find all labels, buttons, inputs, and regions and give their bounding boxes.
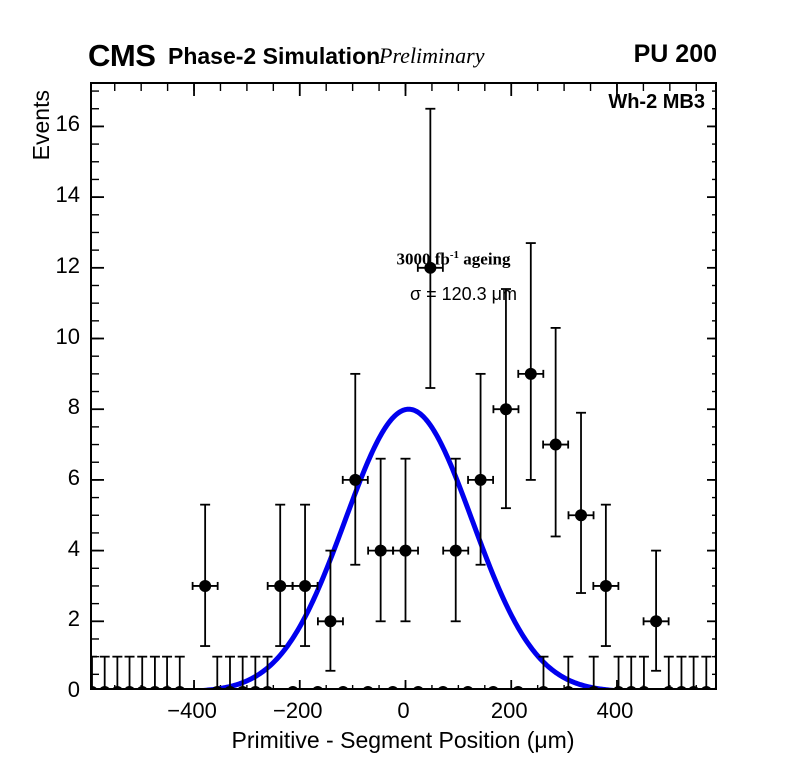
data-point (588, 657, 600, 688)
data-marker (312, 686, 324, 688)
data-point (437, 686, 449, 688)
data-marker (650, 615, 662, 627)
data-point (512, 686, 524, 688)
data-point (688, 657, 700, 688)
data-marker (450, 545, 462, 557)
data-point (237, 657, 249, 688)
data-marker (375, 545, 387, 557)
data-marker (700, 686, 712, 688)
region-label: Wh-2 MB3 (608, 91, 705, 114)
data-point (136, 657, 148, 688)
data-point (644, 551, 669, 671)
data-point (262, 657, 274, 688)
data-marker (92, 686, 98, 688)
data-marker (211, 686, 223, 688)
x-tick-label: −200 (253, 698, 343, 724)
data-point (337, 686, 349, 688)
y-tick-label: 0 (20, 677, 80, 703)
data-point (537, 657, 549, 688)
y-tick-label: 12 (20, 253, 80, 279)
data-point (412, 686, 424, 688)
data-point (393, 459, 418, 622)
data-marker (625, 686, 637, 688)
data-point (211, 657, 223, 688)
y-tick-label: 10 (20, 324, 80, 350)
y-tick-label: 8 (20, 394, 80, 420)
data-marker (136, 686, 148, 688)
data-marker (99, 686, 111, 688)
data-point (224, 657, 236, 688)
data-point (518, 243, 543, 480)
data-point (443, 459, 468, 622)
plot-area (92, 84, 715, 688)
data-point (268, 505, 293, 646)
data-marker (387, 686, 399, 688)
data-point (92, 657, 98, 688)
data-point (593, 505, 618, 646)
cms-logo-text: CMS (88, 40, 155, 71)
data-point (675, 657, 687, 688)
data-marker (274, 580, 286, 592)
data-point (368, 459, 393, 622)
data-point (638, 657, 650, 688)
simulation-label: Phase-2 Simulation (168, 45, 380, 68)
data-marker (124, 686, 136, 688)
data-marker (487, 686, 499, 688)
data-marker (400, 545, 412, 557)
data-marker (324, 615, 336, 627)
data-point (287, 686, 299, 688)
data-marker (224, 686, 236, 688)
data-points-layer (92, 84, 715, 688)
data-point (568, 413, 593, 593)
data-point (174, 657, 186, 688)
data-point (161, 657, 173, 688)
data-marker (713, 686, 715, 688)
data-marker (262, 686, 274, 688)
data-point (543, 328, 568, 537)
data-marker (500, 403, 512, 415)
data-marker (362, 686, 374, 688)
data-marker (600, 580, 612, 592)
data-marker (237, 686, 249, 688)
data-marker (475, 474, 487, 486)
data-marker (161, 686, 173, 688)
data-point (487, 686, 499, 688)
data-marker (199, 580, 211, 592)
y-tick-label: 16 (20, 111, 80, 137)
data-marker (525, 368, 537, 380)
y-tick-label: 14 (20, 182, 80, 208)
data-marker (562, 686, 574, 688)
data-marker (287, 686, 299, 688)
data-marker (512, 686, 524, 688)
data-marker (149, 686, 161, 688)
data-marker (575, 509, 587, 521)
preliminary-label: Preliminary (379, 45, 485, 67)
data-point (124, 657, 136, 688)
y-tick-label: 2 (20, 606, 80, 632)
data-point (713, 657, 715, 688)
y-tick-label: 6 (20, 465, 80, 491)
data-marker (299, 580, 311, 592)
y-tick-label: 4 (20, 536, 80, 562)
pileup-label: PU 200 (634, 42, 717, 67)
data-marker (111, 686, 123, 688)
data-point (293, 505, 318, 646)
plot-canvas: CMS Phase-2 Simulation Preliminary PU 20… (0, 0, 796, 772)
data-point (362, 686, 374, 688)
data-point (663, 657, 675, 688)
data-point (193, 505, 218, 646)
x-tick-label: 0 (359, 698, 449, 724)
data-marker (349, 474, 361, 486)
data-point (312, 686, 324, 688)
data-point (562, 657, 574, 688)
plot-header: CMS Phase-2 Simulation Preliminary PU 20… (0, 0, 796, 82)
lumi-exponent: -1 (450, 249, 459, 261)
x-tick-label: −400 (147, 698, 237, 724)
data-marker (613, 686, 625, 688)
data-marker (688, 686, 700, 688)
data-marker (638, 686, 650, 688)
lumi-suffix: ageing (459, 250, 510, 269)
data-marker (437, 686, 449, 688)
data-point (387, 686, 399, 688)
luminosity-label: 3000 fb-1 ageing (396, 249, 510, 270)
data-point (700, 657, 712, 688)
data-point (149, 657, 161, 688)
data-marker (412, 686, 424, 688)
data-point (343, 374, 368, 565)
data-point (99, 657, 111, 688)
sigma-label: σ = 120.3 μm (410, 284, 517, 305)
data-marker (249, 686, 261, 688)
x-tick-label: 400 (570, 698, 660, 724)
data-marker (174, 686, 186, 688)
data-point (462, 686, 474, 688)
lumi-value: 3000 fb (396, 250, 449, 269)
data-point (318, 551, 343, 671)
plot-frame: Wh-2 MB3 3000 fb-1 ageing σ = 120.3 μm (90, 82, 717, 690)
data-marker (337, 686, 349, 688)
x-axis-title: Primitive - Segment Position (μm) (231, 727, 574, 754)
data-marker (462, 686, 474, 688)
data-marker (675, 686, 687, 688)
data-marker (550, 439, 562, 451)
data-marker (663, 686, 675, 688)
data-marker (537, 686, 549, 688)
x-tick-label: 200 (464, 698, 554, 724)
data-marker (588, 686, 600, 688)
data-point (625, 657, 637, 688)
data-point (613, 657, 625, 688)
data-point (111, 657, 123, 688)
data-point (493, 289, 518, 508)
data-point (468, 374, 493, 565)
data-point (249, 657, 261, 688)
